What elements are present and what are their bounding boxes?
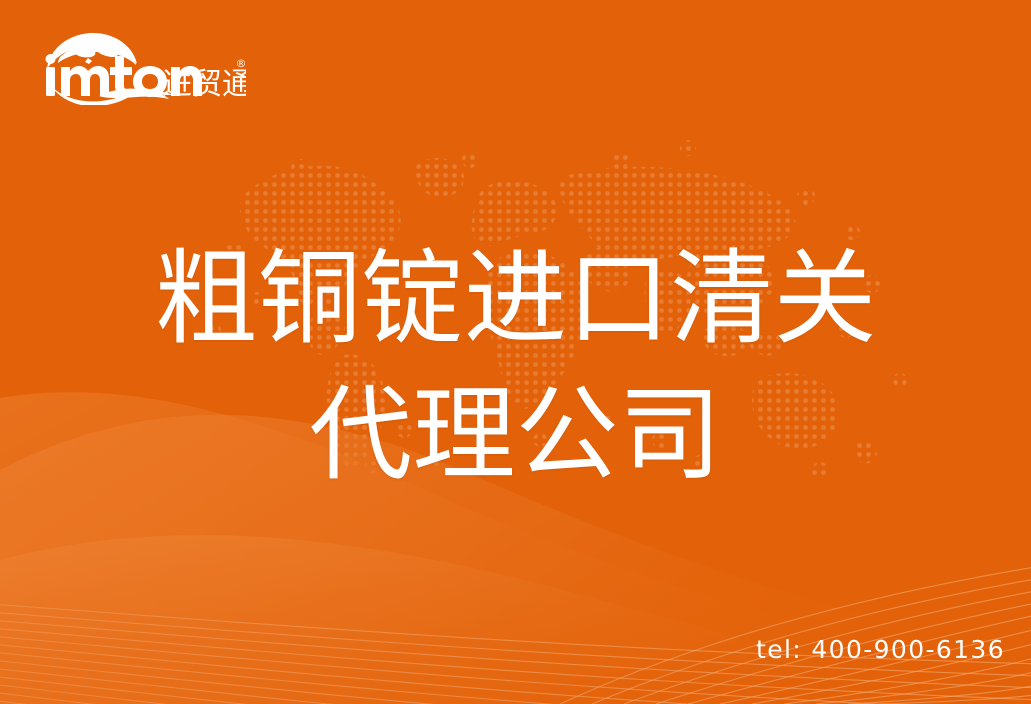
telephone-number[interactable]: tel: 400-900-6136: [756, 635, 1005, 664]
promo-banner: 进贸通 ® 粗铜锭进口清关 代理公司 tel: 400-900-6136: [0, 0, 1031, 704]
logo-artwork: 进贸通 ®: [36, 27, 246, 105]
headline-line-2: 代理公司: [0, 368, 1031, 504]
trademark-icon: ®: [236, 57, 247, 70]
headline: 粗铜锭进口清关 代理公司: [0, 232, 1031, 504]
headline-line-1: 粗铜锭进口清关: [0, 232, 1031, 368]
logo-chinese-name: 进贸通: [162, 67, 246, 102]
imton-logo[interactable]: 进贸通 ®: [36, 27, 246, 105]
